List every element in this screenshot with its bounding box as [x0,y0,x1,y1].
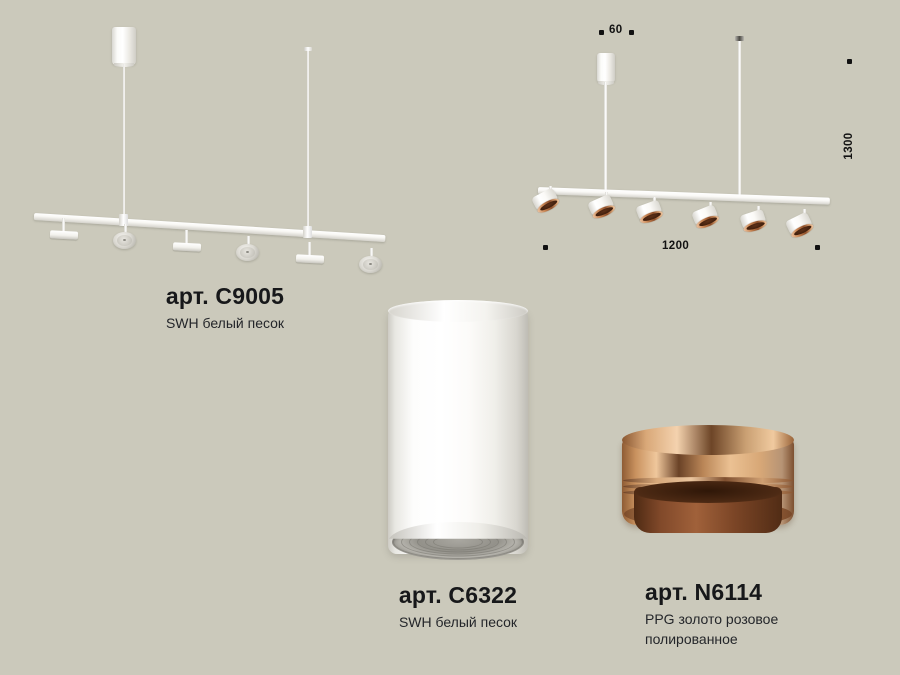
dim-dot-length-left [543,245,548,250]
spot-head-front-4 [691,204,719,227]
dim-length-label: 1200 [662,240,689,252]
rod-2-ceiling-mount [735,36,744,41]
spot-head-front-3 [635,199,663,221]
spot-head-6 [359,256,382,273]
spot-head-front-2 [587,194,615,217]
product-photo-cylinder [388,300,528,562]
suspension-rod-1 [604,82,607,194]
dim-dot-width-left [599,30,604,35]
track-bar-front [538,187,830,205]
spot-ring-6 [790,221,816,240]
spot-ring-3 [639,209,665,226]
suspension-wire-left [123,64,125,222]
spot-ring-2 [591,203,617,221]
finish-desc-n6114-line2: полированное [645,630,865,649]
suspension-rod-2 [738,40,741,200]
finish-desc-c9005: SWH белый песок [60,314,390,333]
art-code-c9005: арт. C9005 [60,284,390,309]
ceiling-canopy-front [597,53,615,83]
label-c6322: арт. C6322 SWH белый песок [353,583,563,632]
spot-ring-4 [695,213,721,230]
product-sheet: арт. C9005 SWH белый песок [0,0,900,675]
spot-head-3 [173,242,201,251]
suspension-wire-right-tip [304,47,312,51]
cylinder-top-cap [388,300,528,322]
spot-head-2 [113,232,136,249]
dim-dot-height-bottom [815,245,820,250]
diagram-track-bar-front-view [525,20,885,255]
cylinder-body [388,310,528,554]
dim-height-label: 1300 [843,129,855,163]
dim-width-label: 60 [609,24,623,36]
ring-top-face [622,425,794,455]
label-n6114: арт. N6114 PPG золото розовое полированн… [645,580,865,649]
spot-ring-1 [536,196,561,215]
spot-head-front-6 [785,212,814,237]
label-c9005: арт. C9005 SWH белый песок [60,284,390,333]
spot-head-4 [236,244,259,261]
rod-bar-junction-right [303,226,312,238]
spot-stem-3 [185,230,188,244]
spot-ring-5 [742,218,768,234]
ring-inner-bore-opening [634,481,782,503]
finish-desc-n6114-line1: PPG золото розовое [645,610,865,629]
dim-dot-width-right [629,30,634,35]
spot-head-5 [296,254,324,263]
suspension-wire-right [307,50,309,233]
spot-head-1 [50,230,78,239]
art-code-n6114: арт. N6114 [645,580,865,605]
product-photo-ring [622,425,794,555]
art-code-c6322: арт. C6322 [353,583,563,608]
finish-desc-c6322: SWH белый песок [353,613,563,632]
diagram-track-bar-top-view [0,0,440,290]
spot-head-front-5 [739,209,766,231]
spot-stem-5 [308,242,311,256]
spot-stem-1 [62,218,65,232]
ceiling-canopy [112,27,136,65]
track-bar [34,213,386,242]
dim-dot-height-top [847,59,852,64]
